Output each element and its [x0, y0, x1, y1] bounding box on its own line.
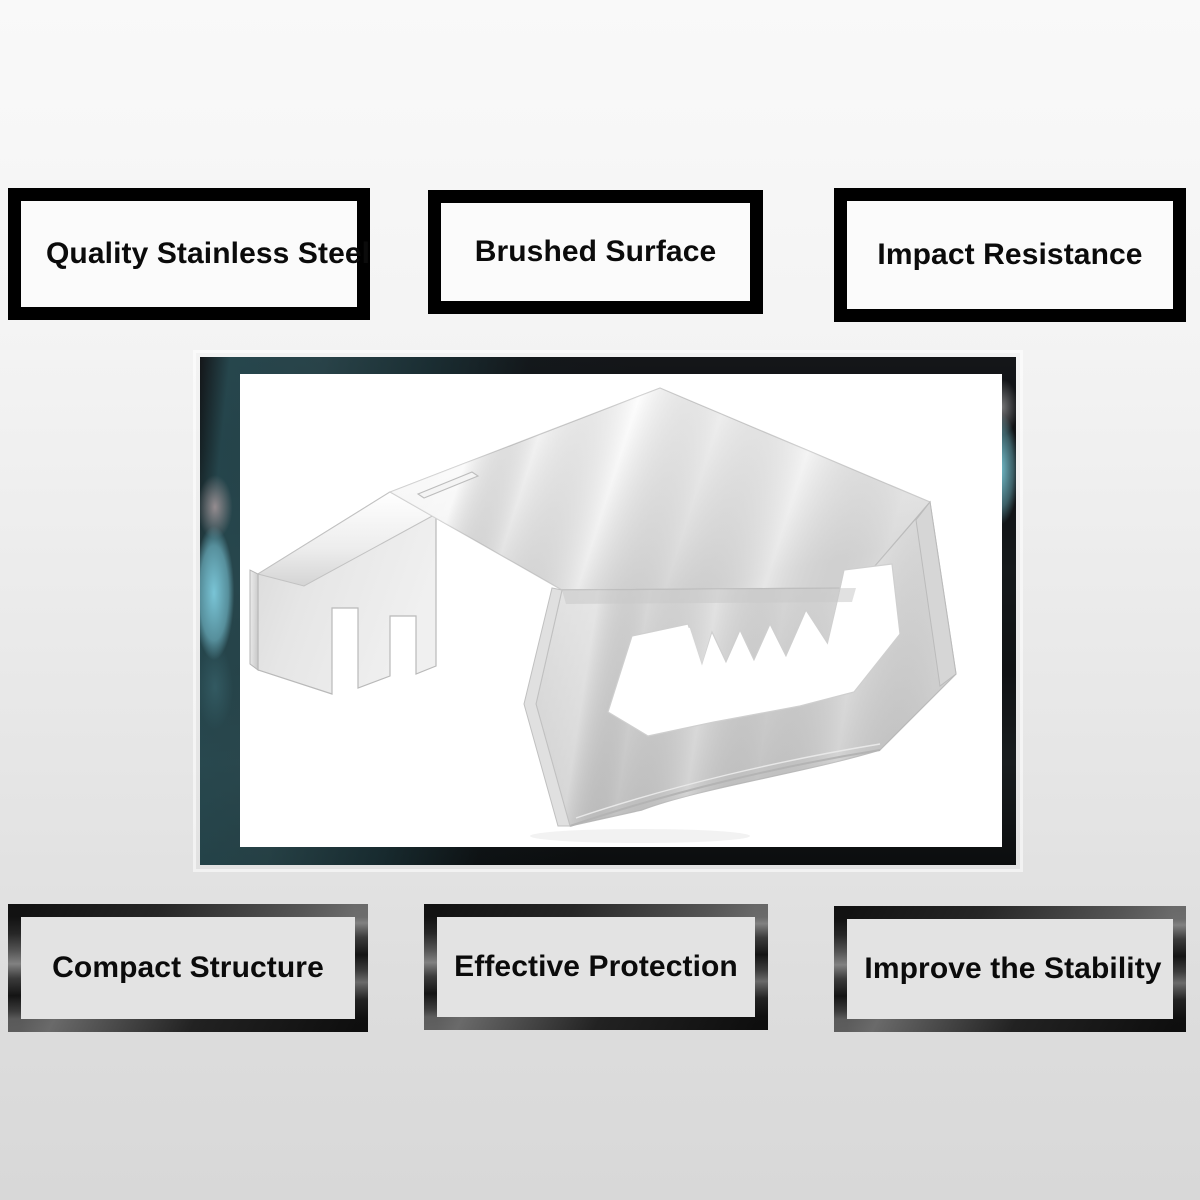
- feature-label: Quality Stainless Steel: [21, 239, 370, 269]
- feature-box-compact-structure: Compact Structure: [8, 904, 368, 1032]
- product-image-frame: [200, 357, 1016, 865]
- product-illustration: [240, 374, 1002, 847]
- feature-box-inner: Compact Structure: [21, 917, 355, 1019]
- feature-label: Brushed Surface: [441, 237, 750, 267]
- stainless-steel-buckle-svg: [240, 374, 1002, 847]
- buckle-front-shade: [562, 588, 856, 604]
- feature-box-inner: Improve the Stability: [847, 919, 1173, 1019]
- feature-box-inner: Impact Resistance: [847, 201, 1173, 309]
- feature-box-effective-protection: Effective Protection: [424, 904, 768, 1030]
- product-infographic: Quality Stainless Steel Brushed Surface …: [0, 0, 1200, 1200]
- buckle-shadow: [530, 829, 750, 843]
- buckle-back-flange-thickness: [250, 570, 258, 670]
- feature-box-inner: Quality Stainless Steel: [21, 201, 357, 307]
- feature-box-improve-the-stability: Improve the Stability: [834, 906, 1186, 1032]
- buckle-top-face-sheen: [390, 388, 930, 590]
- feature-label: Impact Resistance: [847, 240, 1173, 270]
- feature-box-inner: Effective Protection: [437, 917, 755, 1017]
- feature-label: Effective Protection: [437, 952, 755, 982]
- feature-label: Compact Structure: [21, 953, 355, 983]
- feature-box-brushed-surface: Brushed Surface: [428, 190, 763, 314]
- feature-box-quality-stainless-steel: Quality Stainless Steel: [8, 188, 370, 320]
- product-photo: [240, 374, 1002, 847]
- feature-box-impact-resistance: Impact Resistance: [834, 188, 1186, 322]
- feature-box-inner: Brushed Surface: [441, 203, 750, 301]
- feature-label: Improve the Stability: [847, 954, 1173, 984]
